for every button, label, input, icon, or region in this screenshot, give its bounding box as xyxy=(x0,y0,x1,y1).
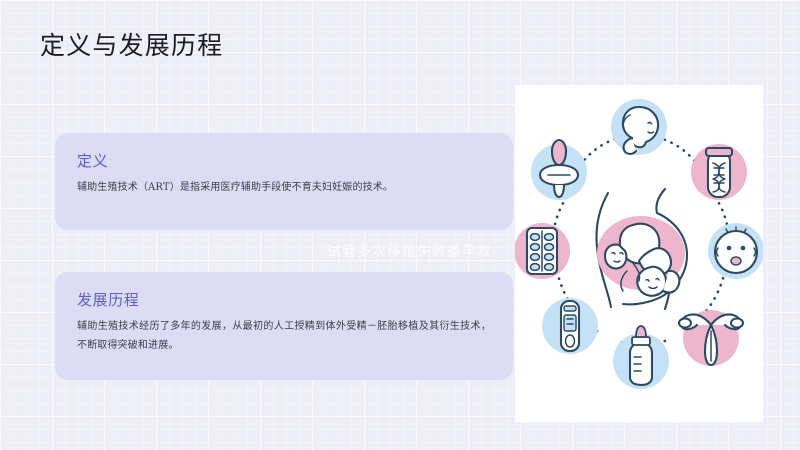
pill-pack-icon xyxy=(515,223,570,279)
dna-test-tube-icon xyxy=(691,144,747,200)
pregnancy-test-icon xyxy=(542,298,598,354)
illustration-panel: .ln { fill:none; stroke:#2b4a63; stroke-… xyxy=(515,85,763,422)
card-history-heading: 发展历程 xyxy=(77,289,491,311)
assisted-reproduction-illustration: .ln { fill:none; stroke:#2b4a63; stroke-… xyxy=(515,85,763,422)
card-definition: 定义 辅助生殖技术（ART）是指采用医疗辅助手段使不育夫妇妊娠的技术。 xyxy=(55,133,513,230)
card-definition-heading: 定义 xyxy=(77,150,491,172)
baby-face-icon xyxy=(708,223,763,279)
page-title: 定义与发展历程 xyxy=(40,31,223,61)
watermark-text: 试管多次移植失败备孕攻 xyxy=(327,241,492,261)
card-history-body: 辅助生殖技术经历了多年的发展，从最初的人工授精到体外受精－胚胎移植及其衍生技术，… xyxy=(77,317,491,355)
card-definition-body: 辅助生殖技术（ART）是指采用医疗辅助手段使不育夫妇妊娠的技术。 xyxy=(77,178,491,197)
slide-root: 定义与发展历程 定义 辅助生殖技术（ART）是指采用医疗辅助手段使不育夫妇妊娠的… xyxy=(0,0,800,450)
watermark: 试管多次移植失败备孕攻 xyxy=(292,236,527,266)
card-history: 发展历程 辅助生殖技术经历了多年的发展，从最初的人工授精到体外受精－胚胎移植及其… xyxy=(55,272,513,380)
fetus-icon xyxy=(611,99,667,155)
